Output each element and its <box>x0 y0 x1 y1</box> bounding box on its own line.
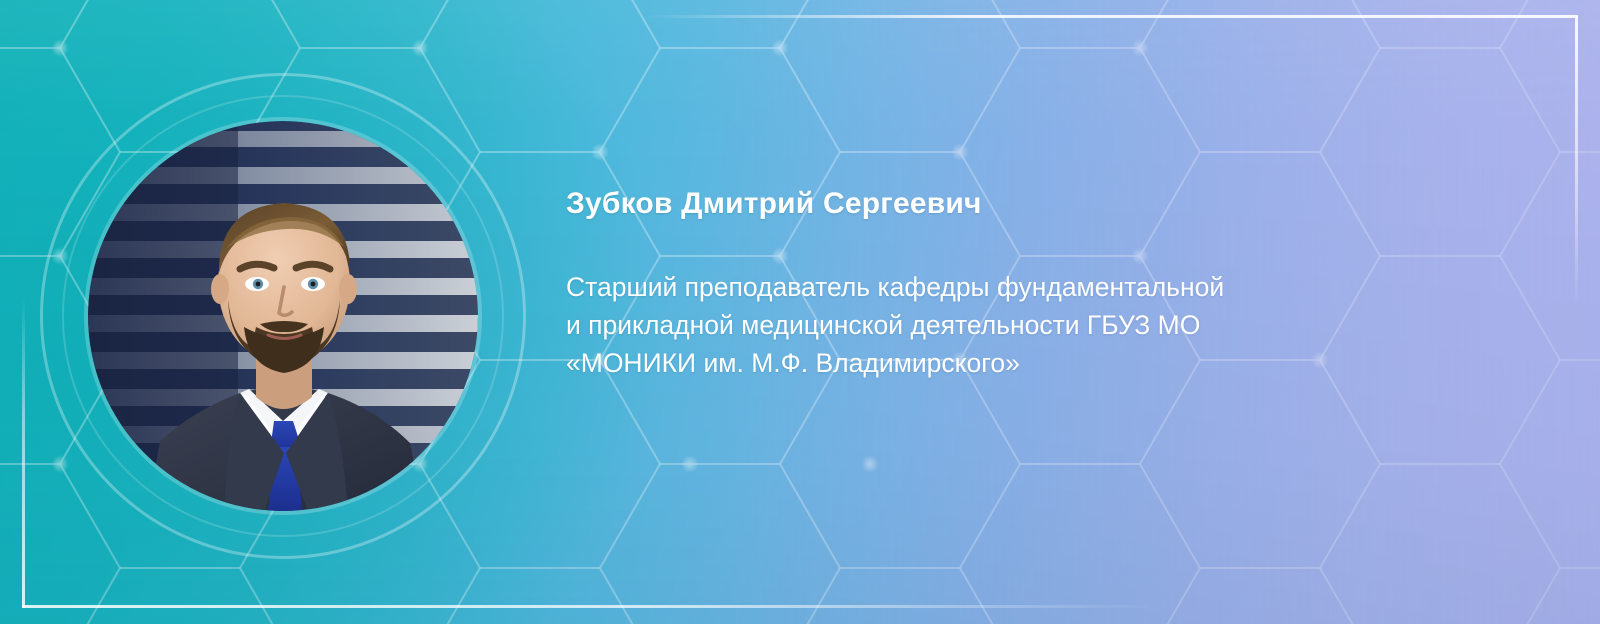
speaker-banner: Зубков Дмитрий Сергеевич Старший препода… <box>0 0 1600 624</box>
person-role-line-3: «МОНИКИ им. М.Ф. Владимирского» <box>566 344 1466 382</box>
frame-line-right <box>1575 15 1578 305</box>
person-role-line-1: Старший преподаватель кафедры фундамента… <box>566 268 1466 306</box>
speaker-text-block: Зубков Дмитрий Сергеевич Старший препода… <box>566 186 1466 382</box>
person-name: Зубков Дмитрий Сергеевич <box>566 186 1466 222</box>
frame-line-bottom <box>22 605 1162 608</box>
frame-line-left <box>22 298 25 608</box>
person-role-line-2: и прикладной медицинской деятельности ГБ… <box>566 306 1466 344</box>
frame-line-top <box>642 15 1578 18</box>
avatar <box>88 121 478 511</box>
person-role: Старший преподаватель кафедры фундамента… <box>566 268 1466 382</box>
